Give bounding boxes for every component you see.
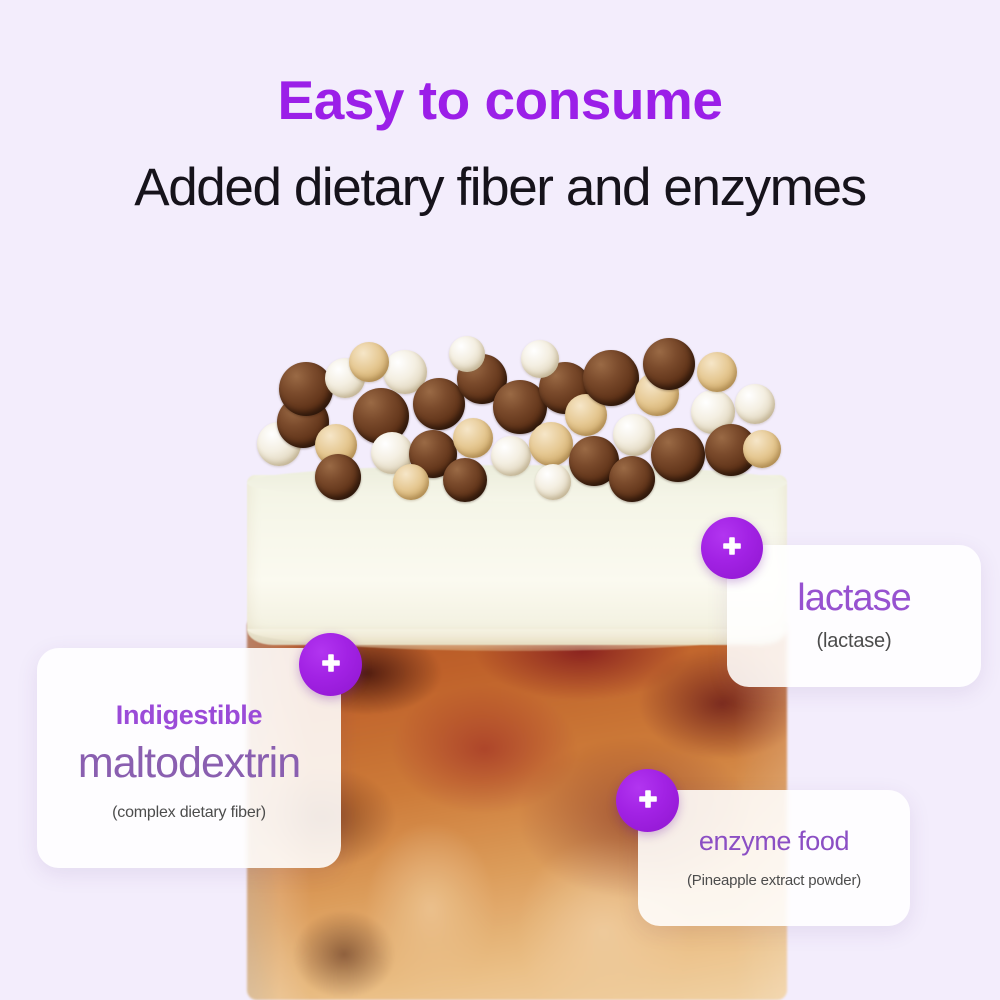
plus-icon[interactable]	[701, 517, 763, 579]
plus-icon[interactable]	[299, 633, 362, 696]
heading-block: Easy to consume Added dietary fiber and …	[0, 0, 1000, 215]
fact-card-enzyme-food[interactable]: enzyme food (Pineapple extract powder)	[638, 790, 910, 926]
page-subtitle: Added dietary fiber and enzymes	[0, 160, 1000, 216]
plus-icon[interactable]	[616, 769, 679, 832]
promo-poster: Easy to consume Added dietary fiber and …	[0, 0, 1000, 1000]
card-caption: (Pineapple extract powder)	[687, 872, 861, 889]
fact-card-maltodextrin[interactable]: Indigestible maltodextrin (complex dieta…	[37, 648, 341, 868]
fact-card-lactase[interactable]: lactase (lactase)	[727, 545, 981, 687]
card-eyebrow: Indigestible	[116, 700, 262, 731]
card-caption: (lactase)	[817, 630, 892, 653]
drink-toppings	[253, 336, 781, 511]
card-title: lactase	[797, 579, 910, 619]
page-title: Easy to consume	[0, 72, 1000, 130]
card-title: enzyme food	[699, 827, 849, 855]
card-title: maltodextrin	[78, 741, 300, 786]
card-caption: (complex dietary fiber)	[112, 804, 266, 822]
